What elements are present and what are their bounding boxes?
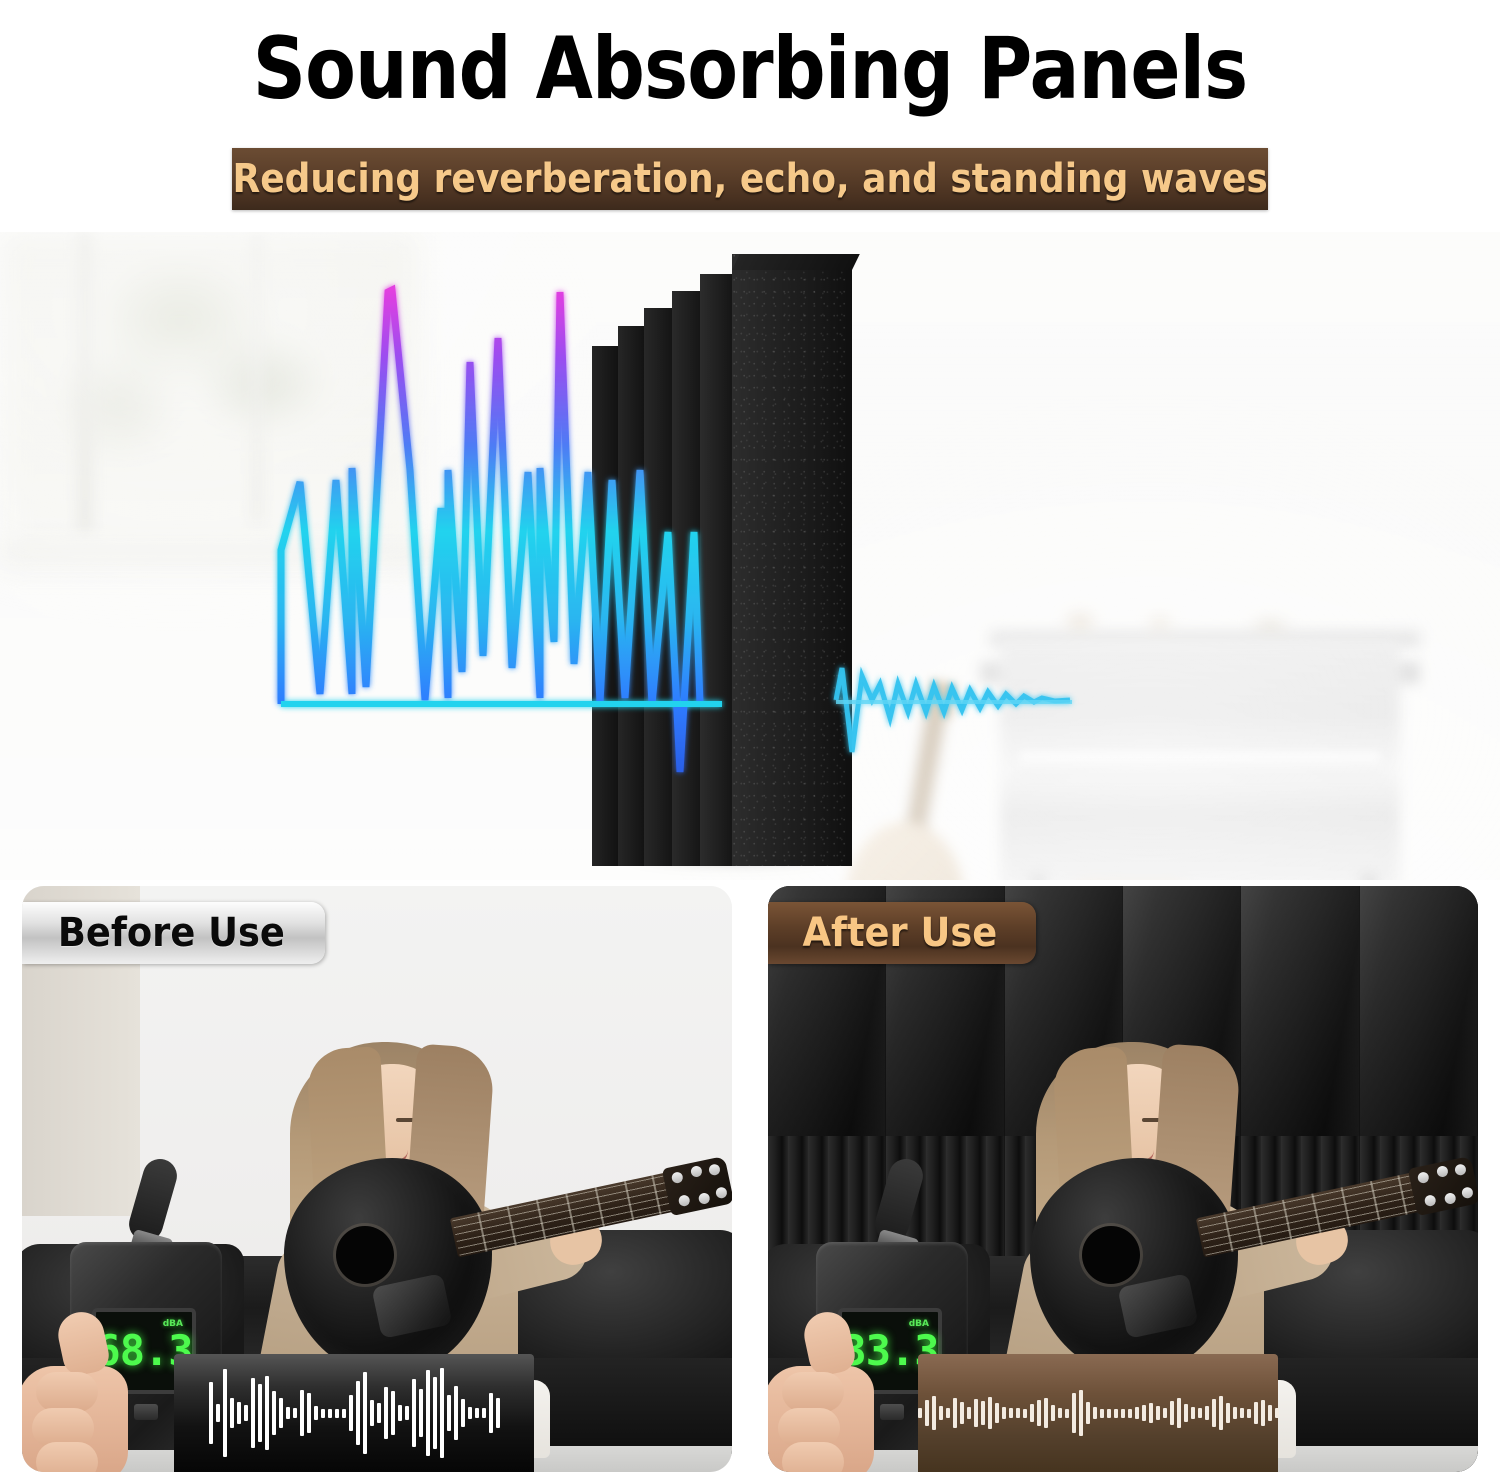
waveform-bar [1093, 1407, 1097, 1419]
waveform-bar [489, 1393, 493, 1433]
waveform-bar [1030, 1404, 1034, 1422]
waveform-bar [496, 1398, 500, 1428]
waveform-bar [939, 1406, 943, 1420]
hand-holding-meter [776, 1310, 926, 1472]
waveform-bar [1100, 1409, 1104, 1418]
waveform-bar [1275, 1408, 1279, 1418]
waveform-bar [447, 1395, 451, 1431]
waveform-bar [1247, 1409, 1251, 1418]
waveform-bar [953, 1398, 957, 1428]
waveform-bar [1212, 1399, 1216, 1427]
guitar-sound-hole [1082, 1226, 1140, 1284]
waveform-bar [461, 1399, 465, 1427]
waveform-bar [349, 1395, 353, 1431]
waveform-bar [405, 1406, 409, 1420]
before-use-panel: 68.3 dBA Before Use [22, 886, 732, 1472]
waveform-bar [384, 1387, 388, 1439]
foam-panel-top-edge [732, 254, 860, 270]
hero-section [0, 232, 1500, 880]
waveform-bar [307, 1393, 311, 1433]
subtitle-banner: Reducing reverberation, echo, and standi… [232, 148, 1268, 210]
waveform-bar [300, 1390, 304, 1436]
acoustic-guitar [1030, 1126, 1460, 1376]
waveform-bar [377, 1403, 381, 1423]
waveform-bar [1079, 1390, 1083, 1436]
waveform-bar [1135, 1407, 1139, 1419]
guitar-strings [1198, 1174, 1426, 1256]
waveform-bar [475, 1408, 479, 1418]
waveform-bar [1072, 1393, 1076, 1433]
page-title: Sound Absorbing Panels [105, 24, 1395, 115]
waveform-bar [1177, 1398, 1181, 1428]
waveform-bar [419, 1389, 423, 1437]
waveform-bar [1170, 1401, 1174, 1425]
waveform-strip-before [174, 1354, 534, 1472]
waveform-bar [223, 1369, 227, 1457]
waveform-bar [258, 1384, 262, 1442]
waveform-bar [932, 1396, 936, 1430]
waveform-bar [272, 1391, 276, 1435]
waveform-bar [391, 1391, 395, 1435]
waveform-bar [440, 1368, 444, 1458]
waveform-bar [918, 1408, 922, 1418]
header: Sound Absorbing Panels Reducing reverber… [0, 0, 1500, 240]
subtitle-text: Reducing reverberation, echo, and standi… [232, 156, 1267, 202]
after-use-badge: After Use [768, 902, 1036, 964]
waveform-bar [1198, 1408, 1202, 1418]
waveform-bar [454, 1386, 458, 1440]
waveform-bar [1023, 1409, 1027, 1418]
waveform-bar [370, 1400, 374, 1426]
waveform-bar [995, 1403, 999, 1423]
waveform-bar [293, 1408, 297, 1418]
waveform-bar [1191, 1407, 1195, 1419]
waveform-bar [1219, 1396, 1223, 1430]
waveform-bar [981, 1401, 985, 1425]
waveform-bar [314, 1406, 318, 1420]
after-use-panel: 33.3 dBA After Use [768, 886, 1478, 1472]
waveform-bar [1051, 1405, 1055, 1421]
waveform-bar [1149, 1403, 1153, 1423]
waveform-bar [1086, 1402, 1090, 1424]
waveform-bar [237, 1402, 241, 1424]
before-use-badge: Before Use [22, 902, 325, 964]
waveform-bar [1163, 1408, 1167, 1418]
waveform-bar [967, 1407, 971, 1419]
waveform-bar [1205, 1406, 1209, 1420]
waveform-bar [356, 1381, 360, 1445]
after-use-label: After Use [802, 910, 997, 956]
waveform-bar [342, 1409, 346, 1418]
waveform-bar [1114, 1409, 1118, 1418]
waveform-bar [279, 1398, 283, 1428]
guitar-strings [452, 1174, 680, 1256]
waveform-bar [216, 1404, 220, 1422]
waveform-bar [468, 1407, 472, 1419]
waveform-bar [1044, 1398, 1048, 1428]
waveform-bar [1002, 1407, 1006, 1419]
waveform-bar [1037, 1400, 1041, 1426]
waveform-bar [1254, 1402, 1258, 1424]
acoustic-foam-panel [592, 254, 852, 866]
waveform-bar [1016, 1408, 1020, 1418]
waveform-bar [412, 1379, 416, 1447]
waveform-bar [1261, 1400, 1265, 1426]
waveform-bar [1233, 1407, 1237, 1419]
waveform-bar [1226, 1403, 1230, 1423]
waveform-bar [244, 1405, 248, 1421]
waveform-bar [925, 1400, 929, 1426]
waveform-bar [482, 1408, 486, 1418]
waveform-bar [335, 1409, 339, 1418]
waveform-strip-after [918, 1354, 1278, 1472]
waveform-bar [946, 1408, 950, 1418]
waveform-bar [1240, 1408, 1244, 1418]
waveform-bar [1009, 1408, 1013, 1418]
waveform-bar [230, 1398, 234, 1428]
waveform-bar [433, 1377, 437, 1449]
waveform-bar [426, 1370, 430, 1456]
comparison-section: 68.3 dBA Before Use [0, 886, 1500, 1476]
waveform-bar [251, 1378, 255, 1448]
waveform-bar [1156, 1406, 1160, 1420]
waveform-bar [398, 1405, 402, 1421]
waveform-bar [960, 1402, 964, 1424]
waveform-bar [286, 1407, 290, 1419]
waveform-bar [1184, 1404, 1188, 1422]
waveform-bar [1121, 1409, 1125, 1418]
waveform-bar [1268, 1405, 1272, 1421]
waveform-bar [328, 1409, 332, 1418]
waveform-bar [974, 1399, 978, 1427]
acoustic-guitar [284, 1126, 714, 1376]
before-use-label: Before Use [58, 910, 285, 956]
waveform-bar [265, 1376, 269, 1450]
waveform-bar [1142, 1405, 1146, 1421]
waveform-bar [1128, 1409, 1132, 1418]
hand-holding-meter [30, 1310, 180, 1472]
waveform-bar [321, 1409, 325, 1418]
waveform-bar [1058, 1408, 1062, 1418]
waveform-bar [363, 1372, 367, 1454]
waveform-bar [988, 1397, 992, 1429]
foam-panel-front-face [732, 254, 852, 866]
waveform-bar [1107, 1409, 1111, 1418]
waveform-bar [209, 1382, 213, 1444]
waveform-bar [1065, 1409, 1069, 1418]
guitar-sound-hole [336, 1226, 394, 1284]
